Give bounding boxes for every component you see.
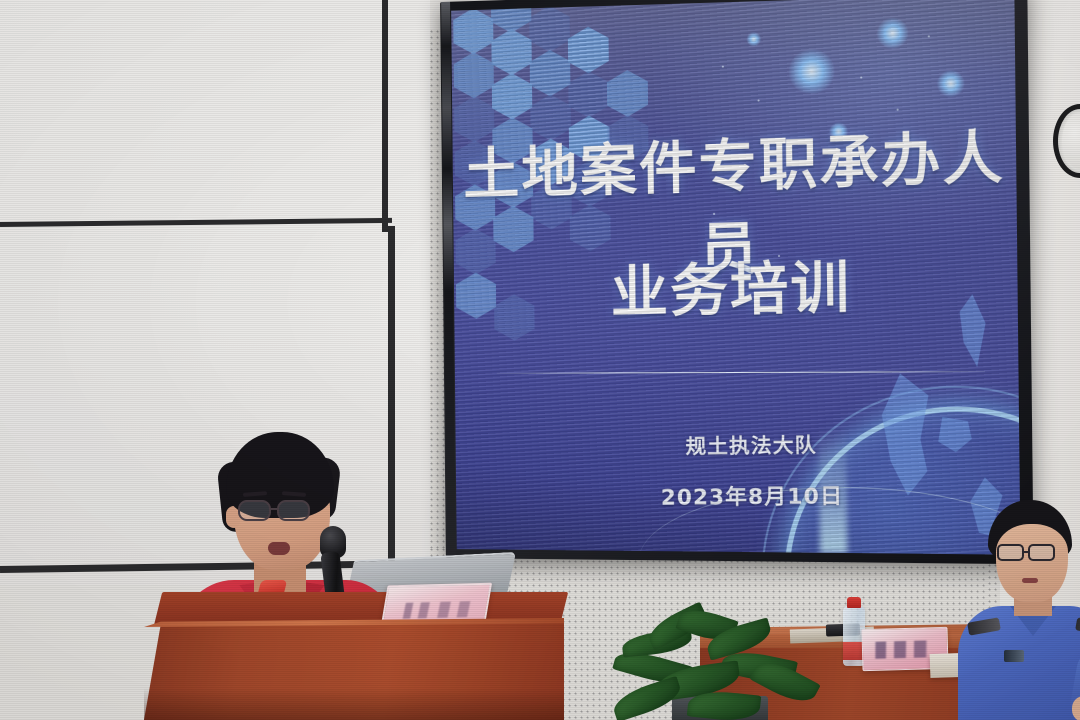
bottle-cap <box>847 597 861 608</box>
wall-seam-horizontal-upper <box>0 218 392 227</box>
slide-subtitle-organization: 规土执法大队 <box>596 427 908 460</box>
display-panel: 土地案件专职承办人员 业务培训 规土执法大队 2023年8月10日 <box>451 0 1020 555</box>
officer-chest-badge <box>1004 650 1024 662</box>
slide-subtitle-date: 2023年8月10日 <box>597 479 910 512</box>
name-card-handwriting <box>398 601 475 619</box>
meeting-room-photo: 土地案件专职承办人员 业务培训 规土执法大队 2023年8月10日 <box>0 0 1080 720</box>
name-plate-handwriting <box>872 640 938 659</box>
eyeglasses-bridge <box>271 508 277 510</box>
presenter-mouth <box>268 542 290 555</box>
led-display[interactable]: 土地案件专职承办人员 业务培训 规土执法大队 2023年8月10日 <box>443 2 1013 562</box>
officer-mouth <box>1022 578 1038 583</box>
eyeglasses-icon <box>997 544 1024 561</box>
officer-face <box>996 524 1068 602</box>
eyeglasses-icon <box>277 500 310 521</box>
eyeglasses-icon <box>238 500 271 521</box>
clock-face <box>1062 113 1080 169</box>
potted-plant <box>612 610 822 720</box>
podium-shadow <box>144 688 564 720</box>
display-bezel: 土地案件专职承办人员 业务培训 规土执法大队 2023年8月10日 <box>440 0 1033 564</box>
eyeglasses-bridge <box>1024 551 1029 553</box>
slide-text-block: 土地案件专职承办人员 业务培训 规土执法大队 2023年8月10日 <box>451 0 1020 555</box>
slide-title-line-2: 业务培训 <box>454 237 1018 333</box>
eyeglasses-icon <box>1028 544 1055 561</box>
seated-officer <box>966 500 1080 720</box>
wall-seam-vertical-upper <box>382 0 388 232</box>
wooden-podium <box>144 592 564 720</box>
